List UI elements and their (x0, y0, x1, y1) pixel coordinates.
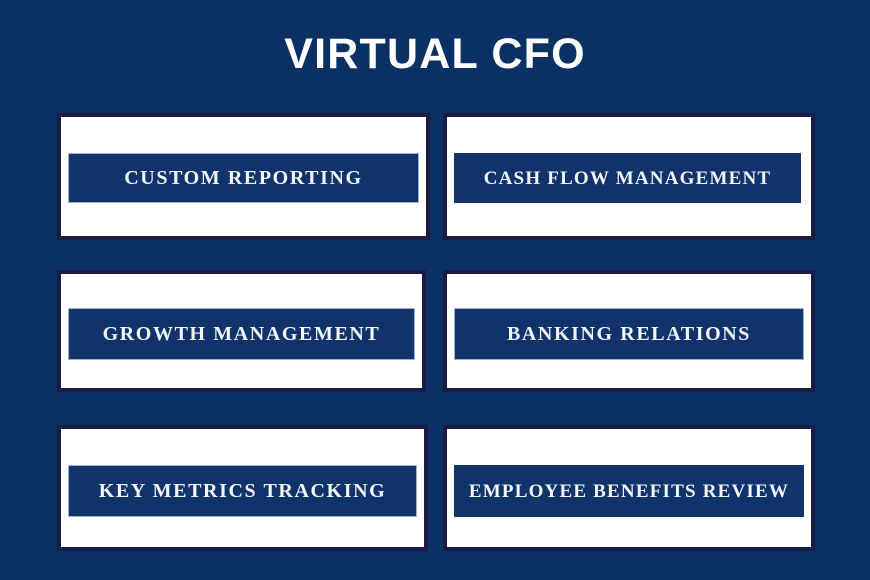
card-label-bar: CASH FLOW MANAGEMENT (454, 153, 801, 203)
card-label-bar: BANKING RELATIONS (454, 308, 804, 360)
card-label-bar: CUSTOM REPORTING (68, 153, 419, 203)
service-card-growth-management[interactable]: GROWTH MANAGEMENT (57, 270, 426, 392)
service-card-cash-flow-management[interactable]: CASH FLOW MANAGEMENT (443, 113, 815, 240)
card-label: KEY METRICS TRACKING (99, 481, 387, 501)
service-card-employee-benefits-review[interactable]: EMPLOYEE BENEFITS REVIEW (443, 425, 815, 551)
slide-root: VIRTUAL CFO CUSTOM REPORTING CASH FLOW M… (0, 0, 870, 580)
card-label: BANKING RELATIONS (507, 324, 751, 344)
service-card-custom-reporting[interactable]: CUSTOM REPORTING (57, 113, 430, 240)
service-card-grid: CUSTOM REPORTING CASH FLOW MANAGEMENT GR… (57, 113, 817, 551)
card-label: CASH FLOW MANAGEMENT (484, 169, 772, 188)
card-label: CUSTOM REPORTING (124, 168, 362, 188)
card-label-bar: KEY METRICS TRACKING (68, 465, 417, 517)
card-label: EMPLOYEE BENEFITS REVIEW (469, 482, 789, 501)
card-label-bar: GROWTH MANAGEMENT (68, 308, 415, 360)
card-label: GROWTH MANAGEMENT (103, 324, 381, 344)
service-card-banking-relations[interactable]: BANKING RELATIONS (443, 270, 815, 392)
service-card-key-metrics-tracking[interactable]: KEY METRICS TRACKING (57, 425, 428, 551)
card-label-bar: EMPLOYEE BENEFITS REVIEW (454, 465, 804, 517)
page-title: VIRTUAL CFO (0, 28, 870, 80)
